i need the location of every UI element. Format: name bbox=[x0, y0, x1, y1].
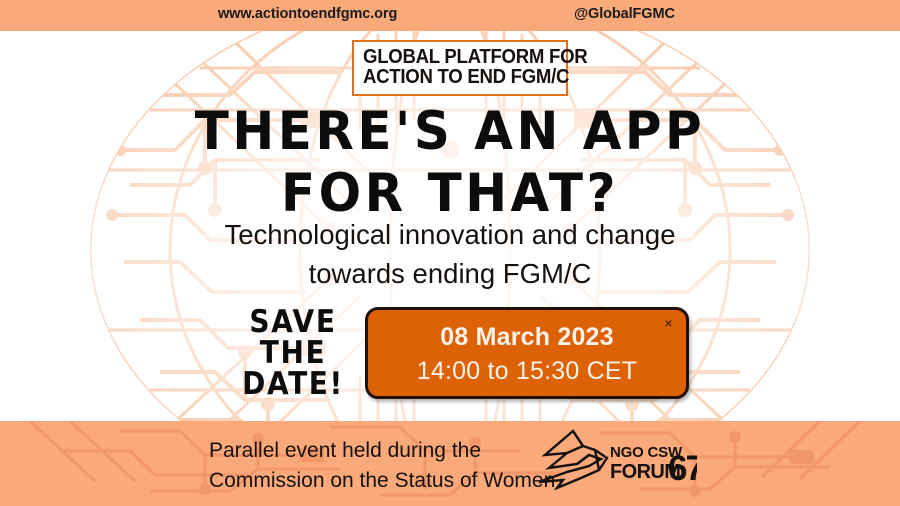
social-handle[interactable]: @GlobalFGMC bbox=[574, 6, 675, 22]
logo-number: 67 bbox=[668, 449, 697, 488]
top-bar: www.actiontoendfgmc.org @GlobalFGMC bbox=[0, 0, 900, 31]
badge-line-2: ACTION TO END FGM/C bbox=[363, 67, 543, 87]
event-datetime-box: 08 March 2023 14:00 to 15:30 CET × bbox=[365, 307, 689, 399]
save-the-date-line-3: DATE! bbox=[228, 366, 358, 400]
subtitle: Technological innovation and change towa… bbox=[0, 215, 900, 293]
footer-line-2: Commission on the Status of Women bbox=[209, 466, 555, 496]
footer-line-1: Parallel event held during the bbox=[209, 436, 555, 466]
footer-bar: Parallel event held during the Commissio… bbox=[0, 421, 900, 506]
headline-line-1: THERE'S AN APP bbox=[0, 98, 900, 164]
website-url[interactable]: www.actiontoendfgmc.org bbox=[218, 6, 397, 22]
platform-logo-badge: GLOBAL PLATFORM FOR ACTION TO END FGM/C bbox=[352, 40, 568, 96]
footer-text: Parallel event held during the Commissio… bbox=[209, 436, 555, 496]
close-icon[interactable]: × bbox=[660, 315, 677, 332]
ngo-csw-forum-logo: NGO CSW FORUM 67 bbox=[537, 428, 697, 490]
badge-line-1: GLOBAL PLATFORM FOR bbox=[363, 47, 543, 67]
event-time: 14:00 to 15:30 CET bbox=[368, 357, 686, 386]
subtitle-line-1: Technological innovation and change bbox=[0, 215, 900, 254]
event-poster: www.actiontoendfgmc.org @GlobalFGMC GLOB… bbox=[0, 0, 900, 506]
dove-icon bbox=[539, 431, 607, 488]
save-the-date-text: SAVE THE DATE! bbox=[228, 306, 358, 399]
subtitle-line-2: towards ending FGM/C bbox=[0, 254, 900, 293]
headline: THERE'S AN APP FOR THAT? bbox=[0, 100, 900, 224]
event-date: 08 March 2023 bbox=[368, 323, 686, 352]
